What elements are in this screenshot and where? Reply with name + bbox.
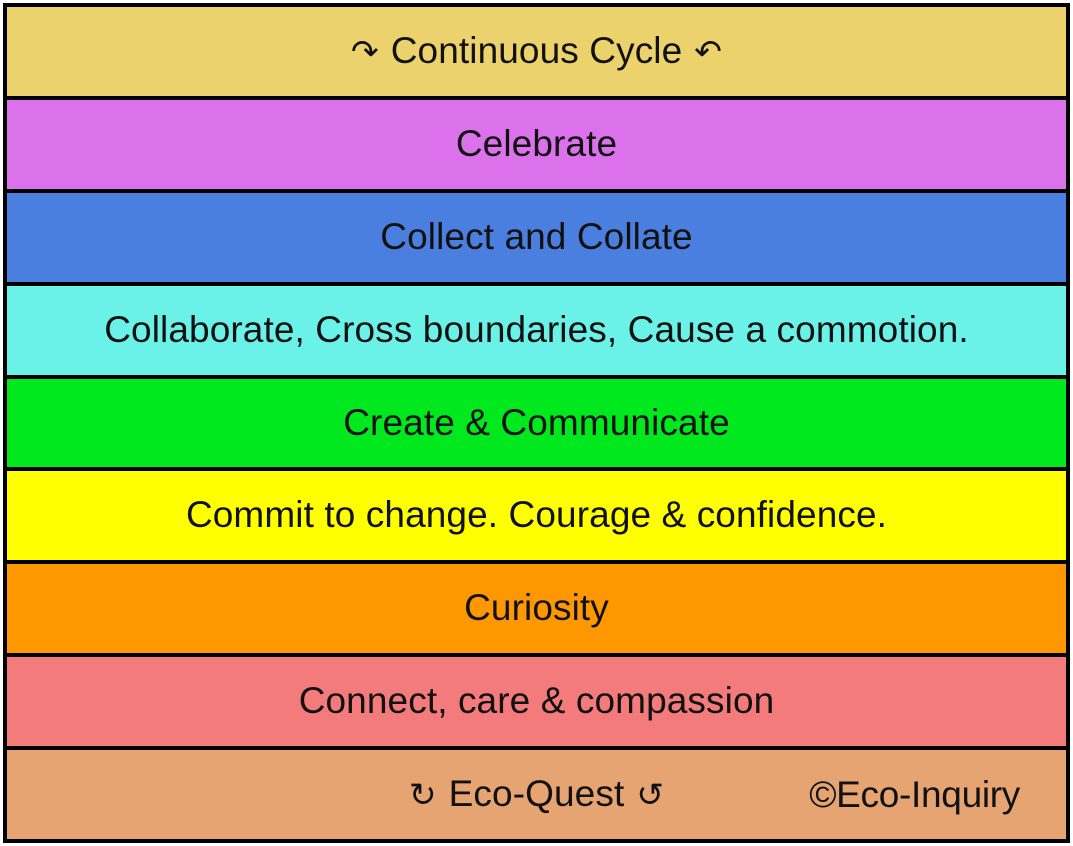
- copyright-attribution: ©Eco-Inquiry: [809, 774, 1020, 816]
- cycle-row-collect-and-collate: Collect and Collate: [7, 191, 1066, 284]
- refresh-clockwise-icon: ↻: [409, 778, 437, 813]
- footer-label: ↻Eco-Quest↺: [399, 775, 674, 814]
- eco-quest-cycle-diagram: ↷Continuous Cycle↶ Celebrate Collect and…: [0, 0, 1073, 846]
- cycle-row-curiosity: Curiosity: [7, 562, 1066, 655]
- cycle-step-label: Celebrate: [446, 125, 627, 164]
- rotate-counterclockwise-icon: ↶: [694, 35, 722, 70]
- cycle-row-celebrate: Celebrate: [7, 98, 1066, 191]
- cycle-ladder: ↷Continuous Cycle↶ Celebrate Collect and…: [3, 3, 1070, 843]
- cycle-step-label: Create & Communicate: [333, 404, 740, 443]
- cycle-row-collaborate: Collaborate, Cross boundaries, Cause a c…: [7, 284, 1066, 377]
- cycle-step-label: Commit to change. Courage & confidence.: [176, 496, 897, 535]
- header-label: ↷Continuous Cycle↶: [341, 32, 732, 71]
- footer-text: Eco-Quest: [449, 773, 625, 814]
- refresh-counterclockwise-icon: ↺: [636, 778, 664, 813]
- cycle-row-create-and-communicate: Create & Communicate: [7, 377, 1066, 470]
- cycle-row-connect-care-compassion: Connect, care & compassion: [7, 655, 1066, 748]
- cycle-row-eco-quest: ↻Eco-Quest↺ ©Eco-Inquiry: [7, 748, 1066, 839]
- cycle-step-label: Collaborate, Cross boundaries, Cause a c…: [94, 311, 979, 350]
- cycle-row-continuous-cycle: ↷Continuous Cycle↶: [7, 7, 1066, 98]
- cycle-row-commit-to-change: Commit to change. Courage & confidence.: [7, 469, 1066, 562]
- cycle-step-label: Connect, care & compassion: [289, 682, 785, 721]
- rotate-clockwise-icon: ↷: [351, 35, 379, 70]
- cycle-step-label: Curiosity: [454, 589, 619, 628]
- header-text: Continuous Cycle: [391, 30, 683, 71]
- cycle-step-label: Collect and Collate: [370, 218, 702, 257]
